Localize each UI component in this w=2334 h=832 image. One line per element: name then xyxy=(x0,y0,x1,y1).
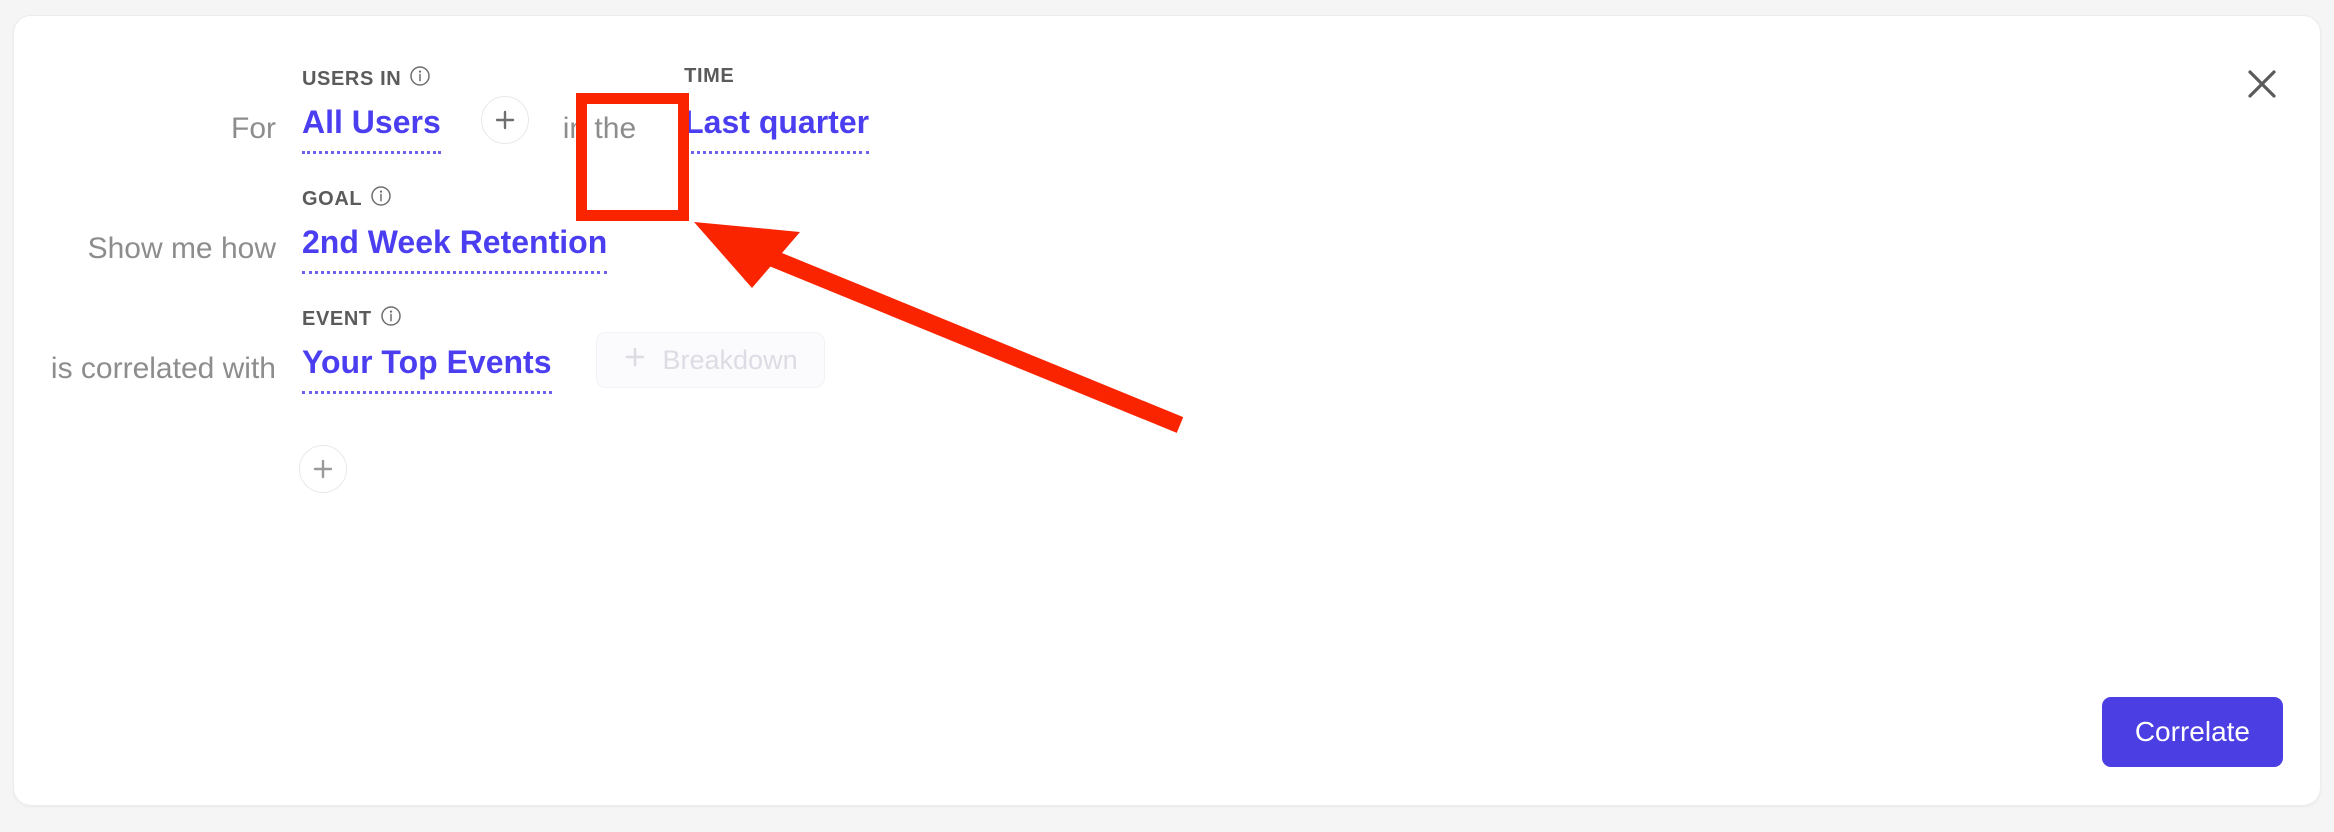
query-row-event: is correlated with EVENT Your Top Events xyxy=(14,318,825,398)
row-prefix-is-correlated-with: is correlated with xyxy=(14,352,276,398)
plus-icon xyxy=(492,107,518,133)
info-icon[interactable] xyxy=(370,185,392,213)
plus-icon xyxy=(623,345,647,376)
add-users-filter-button[interactable] xyxy=(481,96,529,144)
field-label-time: TIME xyxy=(684,65,734,88)
field-label-goal: GOAL xyxy=(302,185,392,213)
field-value-goal[interactable]: 2nd Week Retention xyxy=(302,223,607,274)
field-value-time[interactable]: Last quarter xyxy=(684,103,869,154)
field-value-event[interactable]: Your Top Events xyxy=(302,343,552,394)
correlate-button[interactable]: Correlate xyxy=(2102,697,2283,767)
field-label-text: GOAL xyxy=(302,188,362,211)
field-event: EVENT Your Top Events xyxy=(302,343,552,398)
close-icon xyxy=(2245,67,2279,101)
row-prefix-show-me-how: Show me how xyxy=(14,232,276,278)
info-icon[interactable] xyxy=(409,65,431,93)
field-label-text: EVENT xyxy=(302,308,372,331)
breakdown-button[interactable]: Breakdown xyxy=(596,332,825,388)
field-label-event: EVENT xyxy=(302,305,402,333)
screen: For USERS IN All Users xyxy=(0,0,2334,832)
field-goal: GOAL 2nd Week Retention xyxy=(302,223,607,278)
info-icon[interactable] xyxy=(380,305,402,333)
row-prefix-for: For xyxy=(14,112,276,158)
breakdown-label: Breakdown xyxy=(663,345,798,376)
field-value-users-in[interactable]: All Users xyxy=(302,103,441,154)
field-label-text: USERS IN xyxy=(302,68,401,91)
field-time: TIME Last quarter xyxy=(684,103,869,158)
field-label-text: TIME xyxy=(684,65,734,88)
query-row-goal: Show me how GOAL 2nd Week Retention xyxy=(14,198,607,278)
annotation-highlight-box xyxy=(576,93,689,221)
correlation-query-card: For USERS IN All Users xyxy=(13,15,2321,806)
field-users-in: USERS IN All Users xyxy=(302,103,441,158)
add-query-row-button[interactable] xyxy=(299,445,347,493)
close-button[interactable] xyxy=(2234,56,2290,112)
plus-icon xyxy=(310,456,336,482)
field-label-users-in: USERS IN xyxy=(302,65,431,93)
query-row-users: For USERS IN All Users xyxy=(14,78,869,158)
